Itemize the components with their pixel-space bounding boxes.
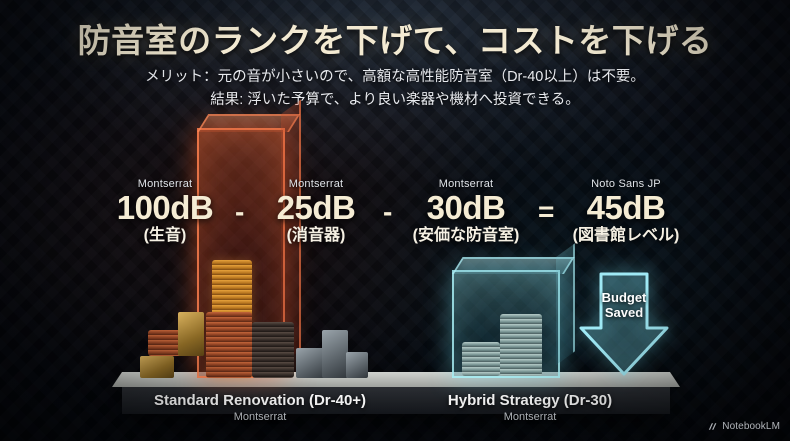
caption-left-title: Standard Renovation (Dr-40+) bbox=[135, 392, 385, 409]
operator-minus-2: - bbox=[383, 196, 392, 228]
equation-term-1: Montserrat 100dB (生音) bbox=[100, 178, 230, 246]
db-value: 45dB bbox=[556, 190, 696, 226]
equation-term-4: Noto Sans JP 45dB (図書館レベル) bbox=[556, 178, 696, 246]
presentation-slide: 防音室のランクを下げて、コストを下げる メリット：元の音が小さいので、高額な高性… bbox=[0, 0, 790, 441]
coin-stack bbox=[206, 312, 252, 378]
operator-equals: = bbox=[538, 196, 554, 228]
subtitle-line-1: メリット：元の音が小さいので、高額な高性能防音室（Dr-40以上）は不要。 bbox=[0, 65, 790, 86]
gold-bar bbox=[178, 312, 204, 356]
equation-term-3: Montserrat 30dB (安価な防音室) bbox=[400, 178, 532, 246]
steel-bar bbox=[346, 352, 368, 378]
db-value: 30dB bbox=[400, 190, 532, 226]
caption-left-font-label: Montserrat bbox=[135, 411, 385, 423]
notebooklm-watermark: NotebookLM bbox=[707, 421, 780, 432]
budget-saved-arrow: Budget Saved bbox=[575, 270, 673, 378]
gold-bar bbox=[140, 356, 174, 378]
coin-stack bbox=[252, 322, 294, 378]
caption-right-title: Hybrid Strategy (Dr-30) bbox=[405, 392, 655, 409]
caption-left: Standard Renovation (Dr-40+) Montserrat bbox=[135, 392, 385, 423]
db-caption: (生音) bbox=[100, 226, 230, 246]
notebooklm-icon bbox=[707, 421, 718, 432]
subtitle-line-2: 結果: 浮いた予算で、より良い楽器や機材へ投資できる。 bbox=[0, 88, 790, 109]
caption-right: Hybrid Strategy (Dr-30) Montserrat bbox=[405, 392, 655, 423]
3d-illustration-stage: Budget Saved bbox=[0, 110, 790, 410]
page-title: 防音室のランクを下げて、コストを下げる bbox=[0, 14, 790, 62]
db-caption: (安価な防音室) bbox=[400, 226, 532, 246]
db-value: 100dB bbox=[100, 190, 230, 226]
coin-stack bbox=[500, 314, 542, 376]
db-caption: (消音器) bbox=[255, 226, 377, 246]
coin-stack bbox=[462, 342, 500, 376]
operator-minus-1: - bbox=[235, 196, 244, 228]
caption-right-font-label: Montserrat bbox=[405, 411, 655, 423]
db-caption: (図書館レベル) bbox=[556, 226, 696, 246]
equation-term-2: Montserrat 25dB (消音器) bbox=[255, 178, 377, 246]
steel-bar bbox=[322, 330, 348, 378]
notebooklm-label: NotebookLM bbox=[722, 421, 780, 432]
db-value: 25dB bbox=[255, 190, 377, 226]
